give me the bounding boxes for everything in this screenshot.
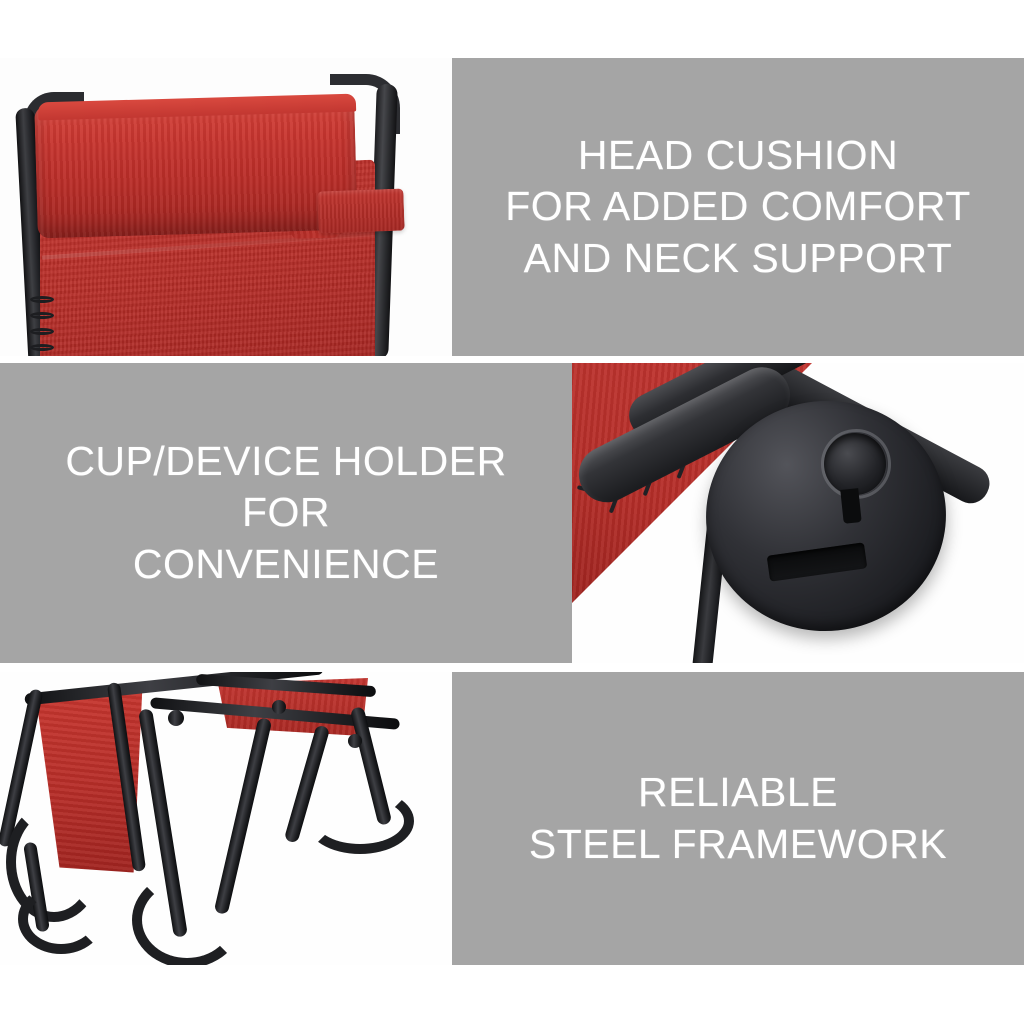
joint-bolt [348, 734, 362, 748]
head-cushion-caption-text: HEAD CUSHION FOR ADDED COMFORT AND NECK … [491, 130, 985, 285]
joint-bolt [168, 710, 184, 726]
bungee-loop [30, 344, 54, 351]
joint-bolt [272, 700, 286, 714]
infographic-stage: HEAD CUSHION FOR ADDED COMFORT AND NECK … [0, 0, 1024, 1024]
head-cushion-photo [0, 58, 452, 356]
pillow-strap [317, 189, 404, 234]
bungee-loop [30, 296, 54, 303]
steel-framework-scene [0, 672, 452, 965]
steel-framework-photo [0, 672, 452, 965]
left-foot-arc [18, 884, 104, 954]
right-foot-arc [306, 788, 414, 854]
head-cushion-caption-panel: HEAD CUSHION FOR ADDED COMFORT AND NECK … [452, 58, 1024, 356]
cup-holder-caption-panel: CUP/DEVICE HOLDER FOR CONVENIENCE [0, 363, 572, 663]
bungee-lacing [30, 296, 54, 356]
steel-framework-caption-panel: RELIABLE STEEL FRAMEWORK [452, 672, 1024, 965]
cup-holder-caption-text: CUP/DEVICE HOLDER FOR CONVENIENCE [51, 436, 520, 591]
cup-holder-scene [572, 363, 1024, 663]
leg-foot-arc [132, 872, 242, 965]
head-cushion-scene [0, 58, 452, 356]
bungee-loop [30, 312, 54, 319]
cup-holder-keyhole [840, 488, 861, 524]
cup-holder-tray-photo [572, 363, 1024, 663]
bungee-loop [30, 328, 54, 335]
steel-framework-caption-text: RELIABLE STEEL FRAMEWORK [515, 767, 961, 870]
